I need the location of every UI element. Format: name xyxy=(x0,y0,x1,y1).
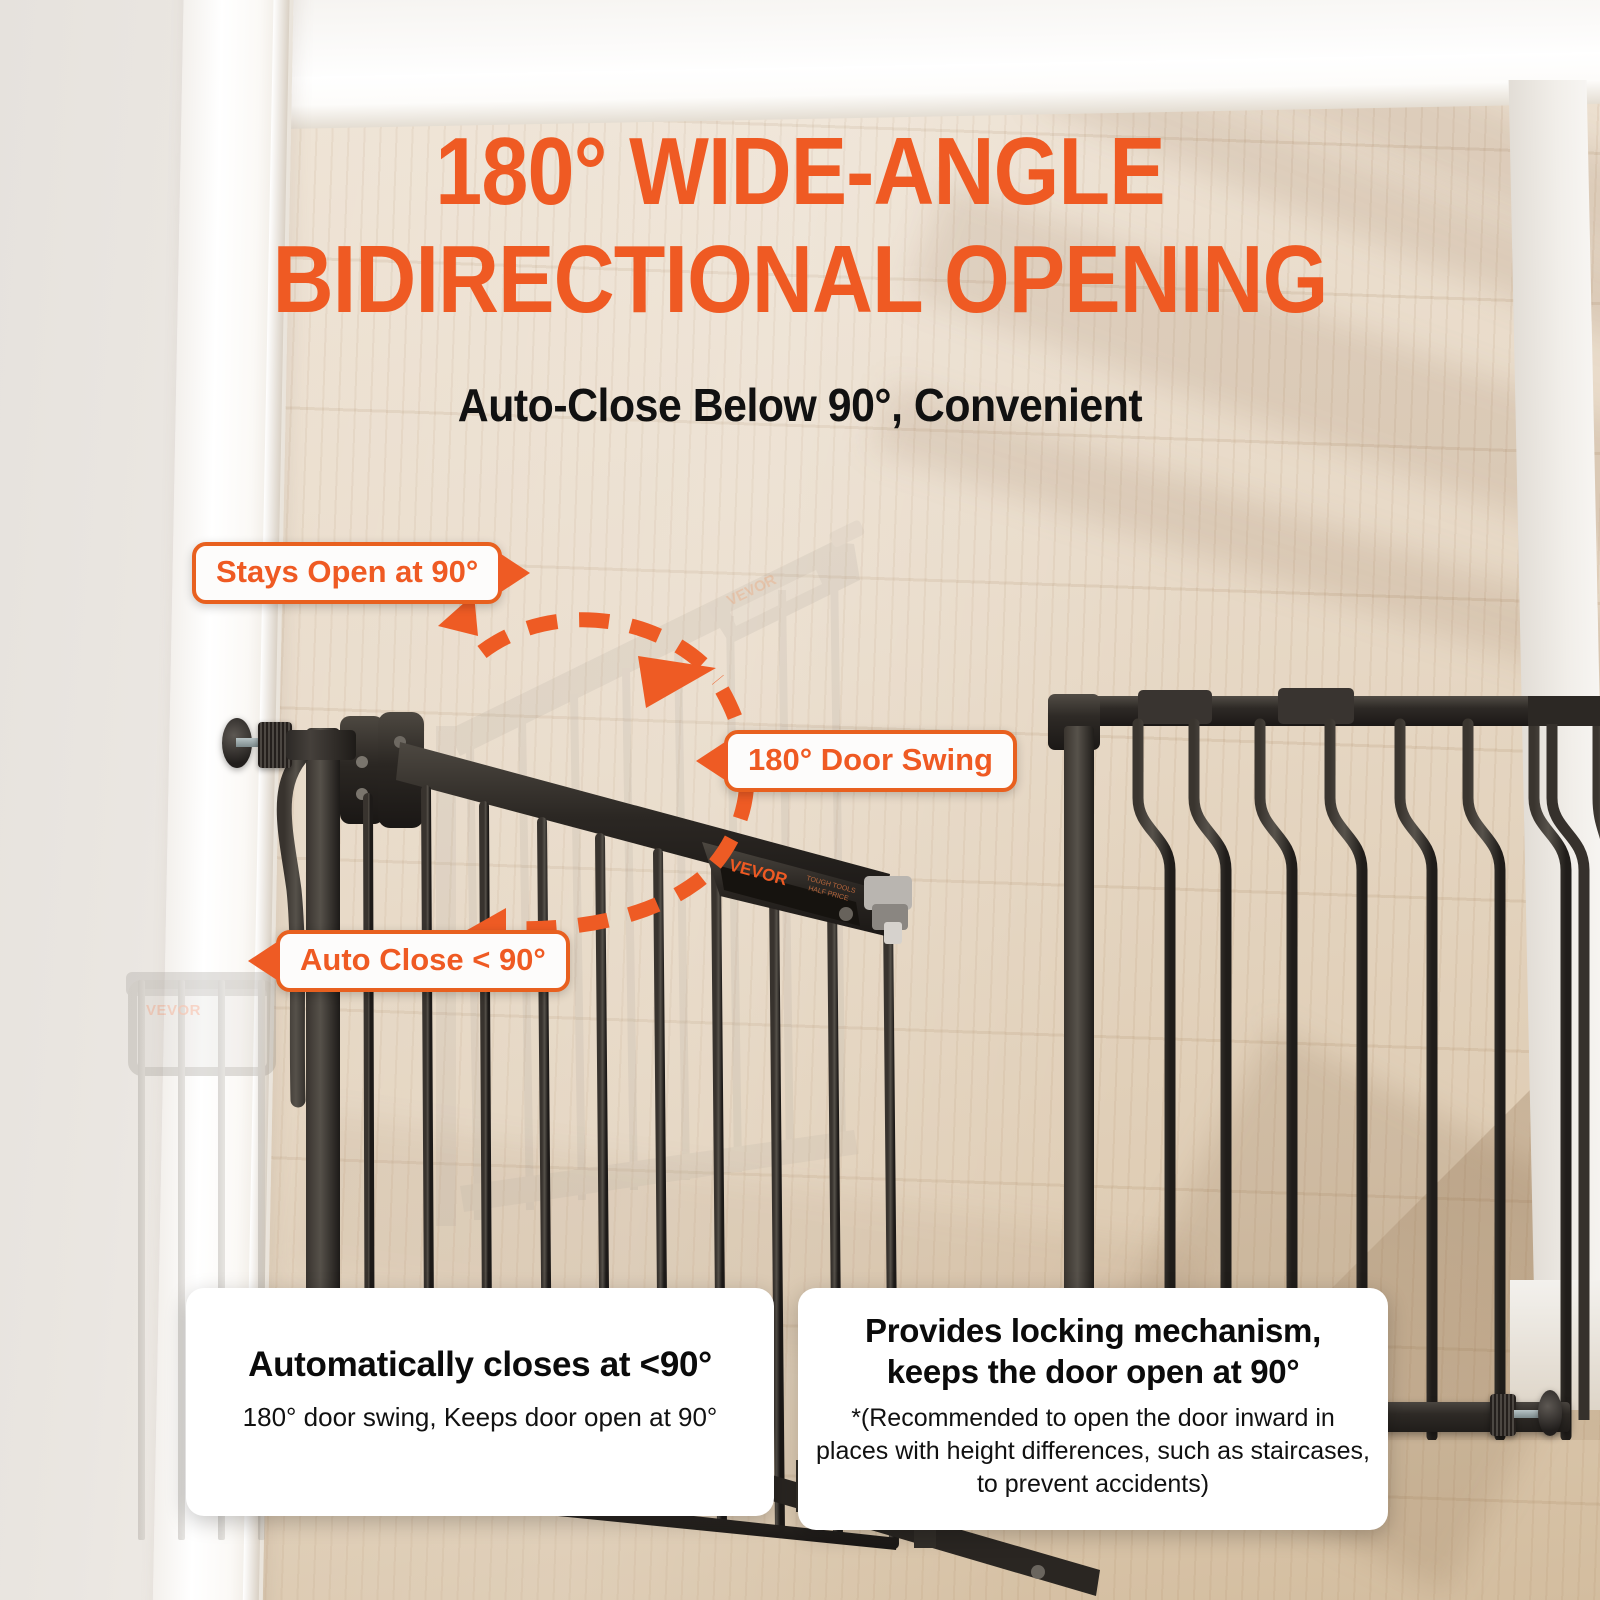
page-title: 180° WIDE-ANGLE BIDIRECTIONAL OPENING xyxy=(96,118,1504,334)
callout-arrow-icon xyxy=(498,552,530,594)
callout-label: Stays Open at 90° xyxy=(216,554,478,589)
callout-auto-close: Auto Close < 90° xyxy=(276,930,570,992)
card-left-title: Automatically closes at <90° xyxy=(186,1344,774,1386)
headline-line-2: BIDIRECTIONAL OPENING xyxy=(96,226,1504,334)
card-left-subtitle: 180° door swing, Keeps door open at 90° xyxy=(186,1400,774,1434)
card-right-title-line-2: keeps the door open at 90° xyxy=(798,1351,1388,1392)
subheadline: Auto-Close Below 90°, Convenient xyxy=(56,378,1544,432)
feature-card-right: Provides locking mechanism, keeps the do… xyxy=(798,1288,1388,1530)
callout-arrow-icon xyxy=(696,740,728,782)
callout-door-swing: 180° Door Swing xyxy=(724,730,1017,792)
callout-arrow-icon xyxy=(248,940,280,982)
arrow-head-mid-up xyxy=(638,656,716,708)
headline-line-1: 180° WIDE-ANGLE xyxy=(96,118,1504,226)
callout-stays-open: Stays Open at 90° xyxy=(192,542,502,604)
callout-label: 180° Door Swing xyxy=(748,742,993,777)
brand-logo-ghost: VEVOR xyxy=(146,1002,201,1019)
card-right-subtitle: *(Recommended to open the door inward in… xyxy=(798,1402,1388,1501)
gate-right-edge-bars xyxy=(1528,680,1600,1420)
callout-label: Auto Close < 90° xyxy=(300,942,546,977)
card-right-title-line-1: Provides locking mechanism, xyxy=(798,1310,1388,1351)
product-marketing-image: VEVOR VEVOR xyxy=(0,0,1600,1600)
feature-card-left: Automatically closes at <90° 180° door s… xyxy=(186,1288,774,1516)
